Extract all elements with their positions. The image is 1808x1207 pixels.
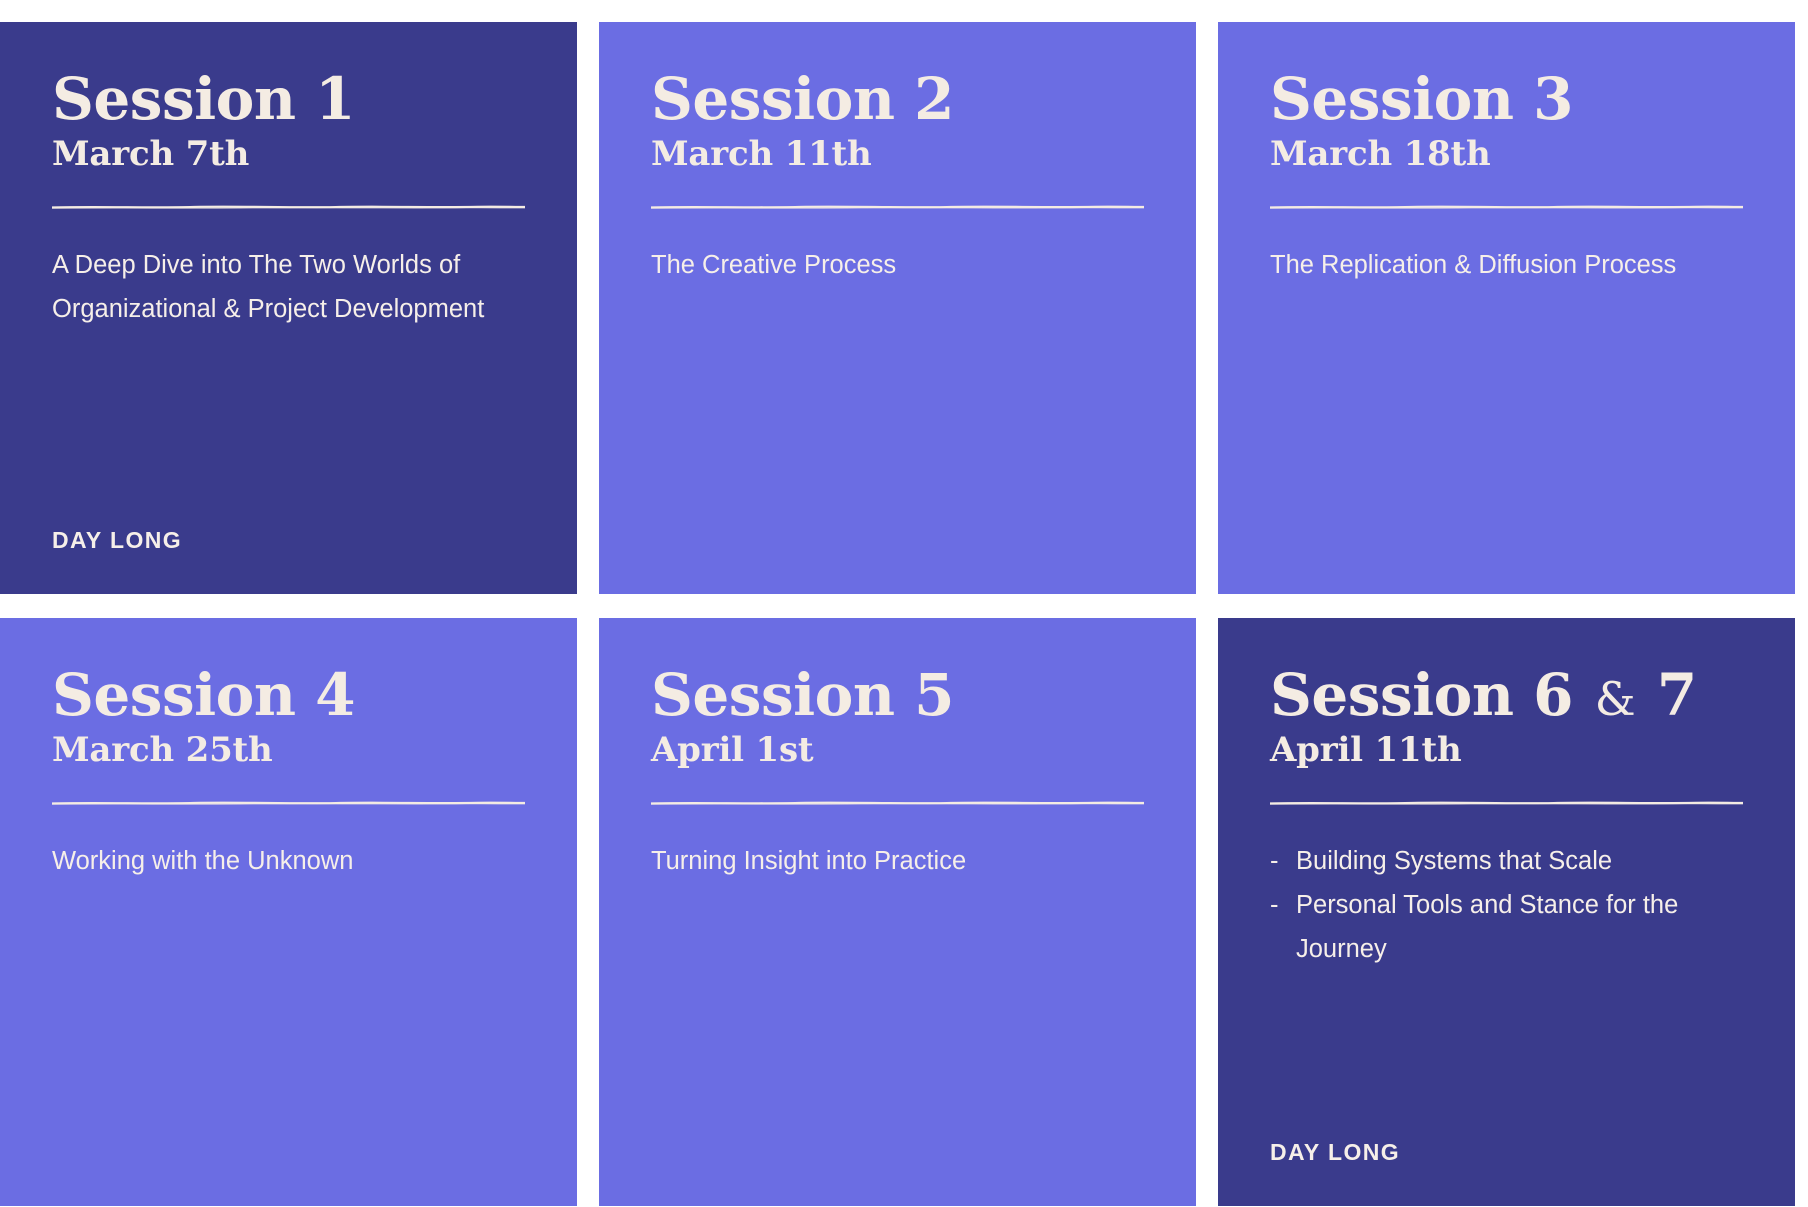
session-card-session-3[interactable]: Session 3 March 18th The Replication & D… (1218, 22, 1795, 594)
session-title: Session 5 (651, 666, 1144, 725)
list-item: - Building Systems that Scale (1270, 840, 1716, 884)
session-date: March 25th (52, 731, 525, 770)
divider-rule (52, 204, 525, 210)
card-spacer (1270, 972, 1743, 1103)
session-card-session-2[interactable]: Session 2 March 11th The Creative Proces… (599, 22, 1196, 594)
list-item: - Personal Tools and Stance for the Jour… (1270, 884, 1716, 972)
session-title-tail: 7 (1657, 661, 1697, 729)
session-title: Session 6 & 7 (1270, 666, 1743, 725)
divider-rule (651, 204, 1144, 210)
session-title: Session 2 (651, 70, 1144, 129)
divider-rule (651, 800, 1144, 806)
divider-rule (1270, 204, 1743, 210)
session-date: March 11th (651, 135, 1144, 174)
bullet-dash-icon: - (1270, 884, 1279, 928)
card-spacer (52, 884, 525, 1166)
session-title: Session 3 (1270, 70, 1743, 129)
ampersand-glyph: & (1593, 672, 1637, 726)
list-item-label: Personal Tools and Stance for the Journe… (1296, 891, 1678, 963)
session-card-session-4[interactable]: Session 4 March 25th Working with the Un… (0, 618, 577, 1206)
session-title: Session 1 (52, 70, 525, 129)
session-date: April 11th (1270, 731, 1743, 770)
session-card-session-5[interactable]: Session 5 April 1st Turning Insight into… (599, 618, 1196, 1206)
session-date: March 18th (1270, 135, 1743, 174)
card-spacer (52, 332, 525, 491)
card-spacer (651, 288, 1144, 554)
session-title: Session 4 (52, 666, 525, 725)
session-description: Turning Insight into Practice (651, 840, 1071, 884)
session-description: The Replication & Diffusion Process (1270, 244, 1690, 288)
session-card-session-1[interactable]: Session 1 March 7th A Deep Dive into The… (0, 22, 577, 594)
session-date: March 7th (52, 135, 525, 174)
session-description: Working with the Unknown (52, 840, 472, 884)
session-description: A Deep Dive into The Two Worlds of Organ… (52, 244, 492, 332)
divider-rule (52, 800, 525, 806)
card-spacer (1270, 288, 1743, 554)
day-long-badge: DAY LONG (52, 491, 525, 554)
session-description: The Creative Process (651, 244, 1071, 288)
session-card-session-6-7[interactable]: Session 6 & 7 April 11th - Building Syst… (1218, 618, 1795, 1206)
list-item-label: Building Systems that Scale (1296, 847, 1612, 875)
session-bullet-list: - Building Systems that Scale - Personal… (1270, 840, 1743, 972)
card-spacer (651, 884, 1144, 1166)
day-long-badge: DAY LONG (1270, 1103, 1743, 1166)
session-card-grid: Session 1 March 7th A Deep Dive into The… (0, 0, 1808, 1207)
divider-rule (1270, 800, 1743, 806)
bullet-dash-icon: - (1270, 840, 1279, 884)
session-date: April 1st (651, 731, 1144, 770)
session-title-main: Session 6 (1270, 661, 1573, 729)
